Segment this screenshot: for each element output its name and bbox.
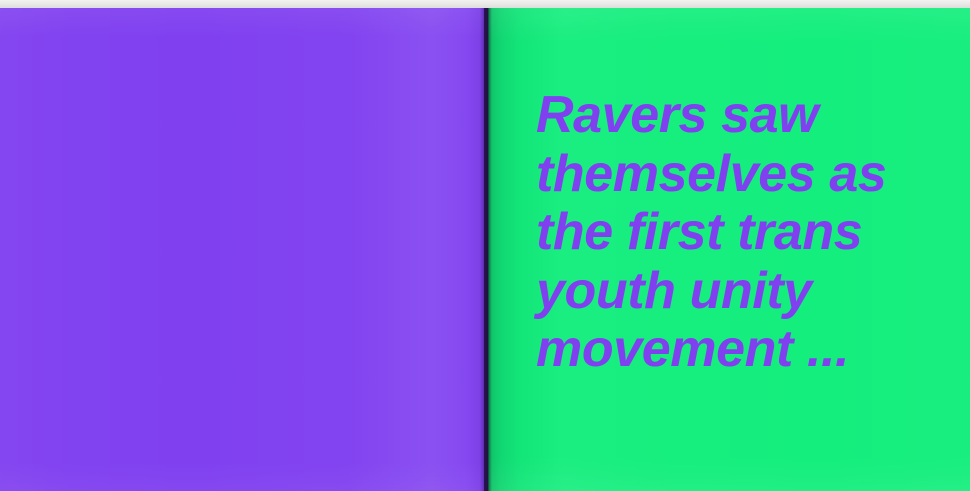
quote-line: themselves as (536, 145, 936, 204)
left-page-horizontal-sheen (0, 8, 486, 491)
quote-line: the first trans (536, 203, 936, 262)
page-top-trim-strip (0, 0, 970, 8)
quote-text-block: Ravers saw themselves as the first trans… (536, 86, 936, 379)
quote-line: youth unity (536, 262, 936, 321)
spread-canvas: Ravers saw themselves as the first trans… (0, 0, 970, 491)
left-page-vertical-sheen (0, 8, 486, 491)
quote-line: Ravers saw (536, 86, 936, 145)
left-page-purple (0, 8, 486, 491)
quote-line: movement ... (536, 320, 936, 379)
